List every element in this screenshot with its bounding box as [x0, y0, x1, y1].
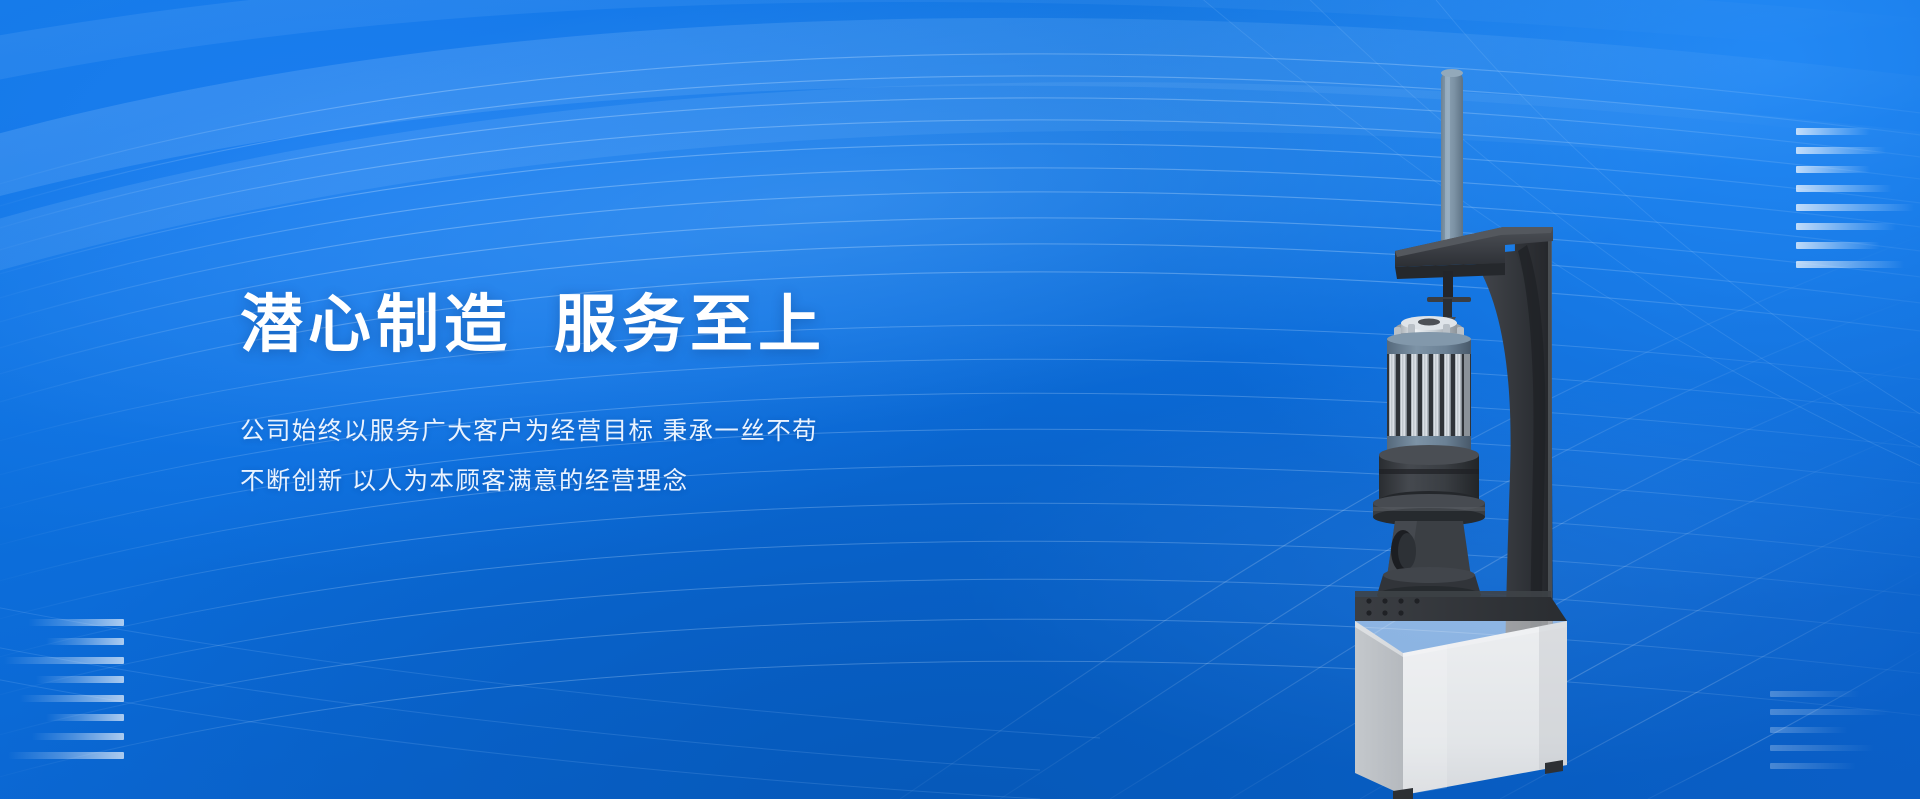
decor-bar-bottom-left	[46, 714, 124, 721]
rotor-hub	[1373, 445, 1485, 604]
decor-bars-bottom-right	[1770, 691, 1920, 781]
decor-bar-top-right	[1796, 261, 1904, 268]
decor-bar-top-right	[1796, 242, 1880, 249]
decor-bar-top-right	[1796, 128, 1870, 135]
decor-bar-bottom-right	[1770, 727, 1848, 733]
decor-bar-top-right	[1796, 223, 1896, 230]
headline-part-1: 潜心制造	[240, 290, 512, 360]
decor-bars-top-right	[1796, 128, 1920, 280]
decor-bar-bottom-right	[1770, 745, 1874, 751]
decor-bar-top-right	[1796, 185, 1892, 192]
decor-bar-bottom-right	[1770, 763, 1856, 769]
subtitle-line-2: 不断创新 以人为本顾客满意的经营理念	[240, 457, 1000, 507]
decor-bar-top-right	[1796, 147, 1886, 154]
headline-part-2: 服务至上	[554, 290, 826, 360]
decor-bar-bottom-left	[28, 619, 124, 626]
product-machine-image	[1355, 55, 1715, 799]
hero-copy: 潜心制造服务至上 公司始终以服务广大客户为经营目标 秉承一丝不苟 不断创新 以人…	[240, 290, 1000, 507]
decor-bar-bottom-left	[36, 676, 124, 683]
decor-bar-bottom-left	[8, 752, 124, 759]
decor-bar-bottom-left	[32, 733, 124, 740]
decor-bar-bottom-left	[4, 657, 124, 664]
page-title: 潜心制造服务至上	[240, 290, 1000, 361]
vertical-probe-rod	[1441, 69, 1463, 255]
decor-bar-bottom-left	[20, 695, 124, 702]
decor-bar-top-right	[1796, 204, 1914, 211]
motor-cylinder-assembly	[1387, 316, 1471, 460]
decor-bar-top-right	[1796, 166, 1870, 173]
hero-banner: 潜心制造服务至上 公司始终以服务广大客户为经营目标 秉承一丝不苟 不断创新 以人…	[0, 0, 1920, 799]
pedestal-cabinet	[1355, 591, 1567, 799]
decor-bar-bottom-right	[1770, 691, 1860, 697]
decor-bar-bottom-right	[1770, 709, 1890, 715]
subtitle-line-1: 公司始终以服务广大客户为经营目标 秉承一丝不苟	[240, 418, 818, 445]
hero-subtitle: 公司始终以服务广大客户为经营目标 秉承一丝不苟 不断创新 以人为本顾客满意的经营…	[240, 407, 1000, 508]
decor-bars-bottom-left	[0, 619, 124, 771]
decor-bar-bottom-left	[46, 638, 124, 645]
